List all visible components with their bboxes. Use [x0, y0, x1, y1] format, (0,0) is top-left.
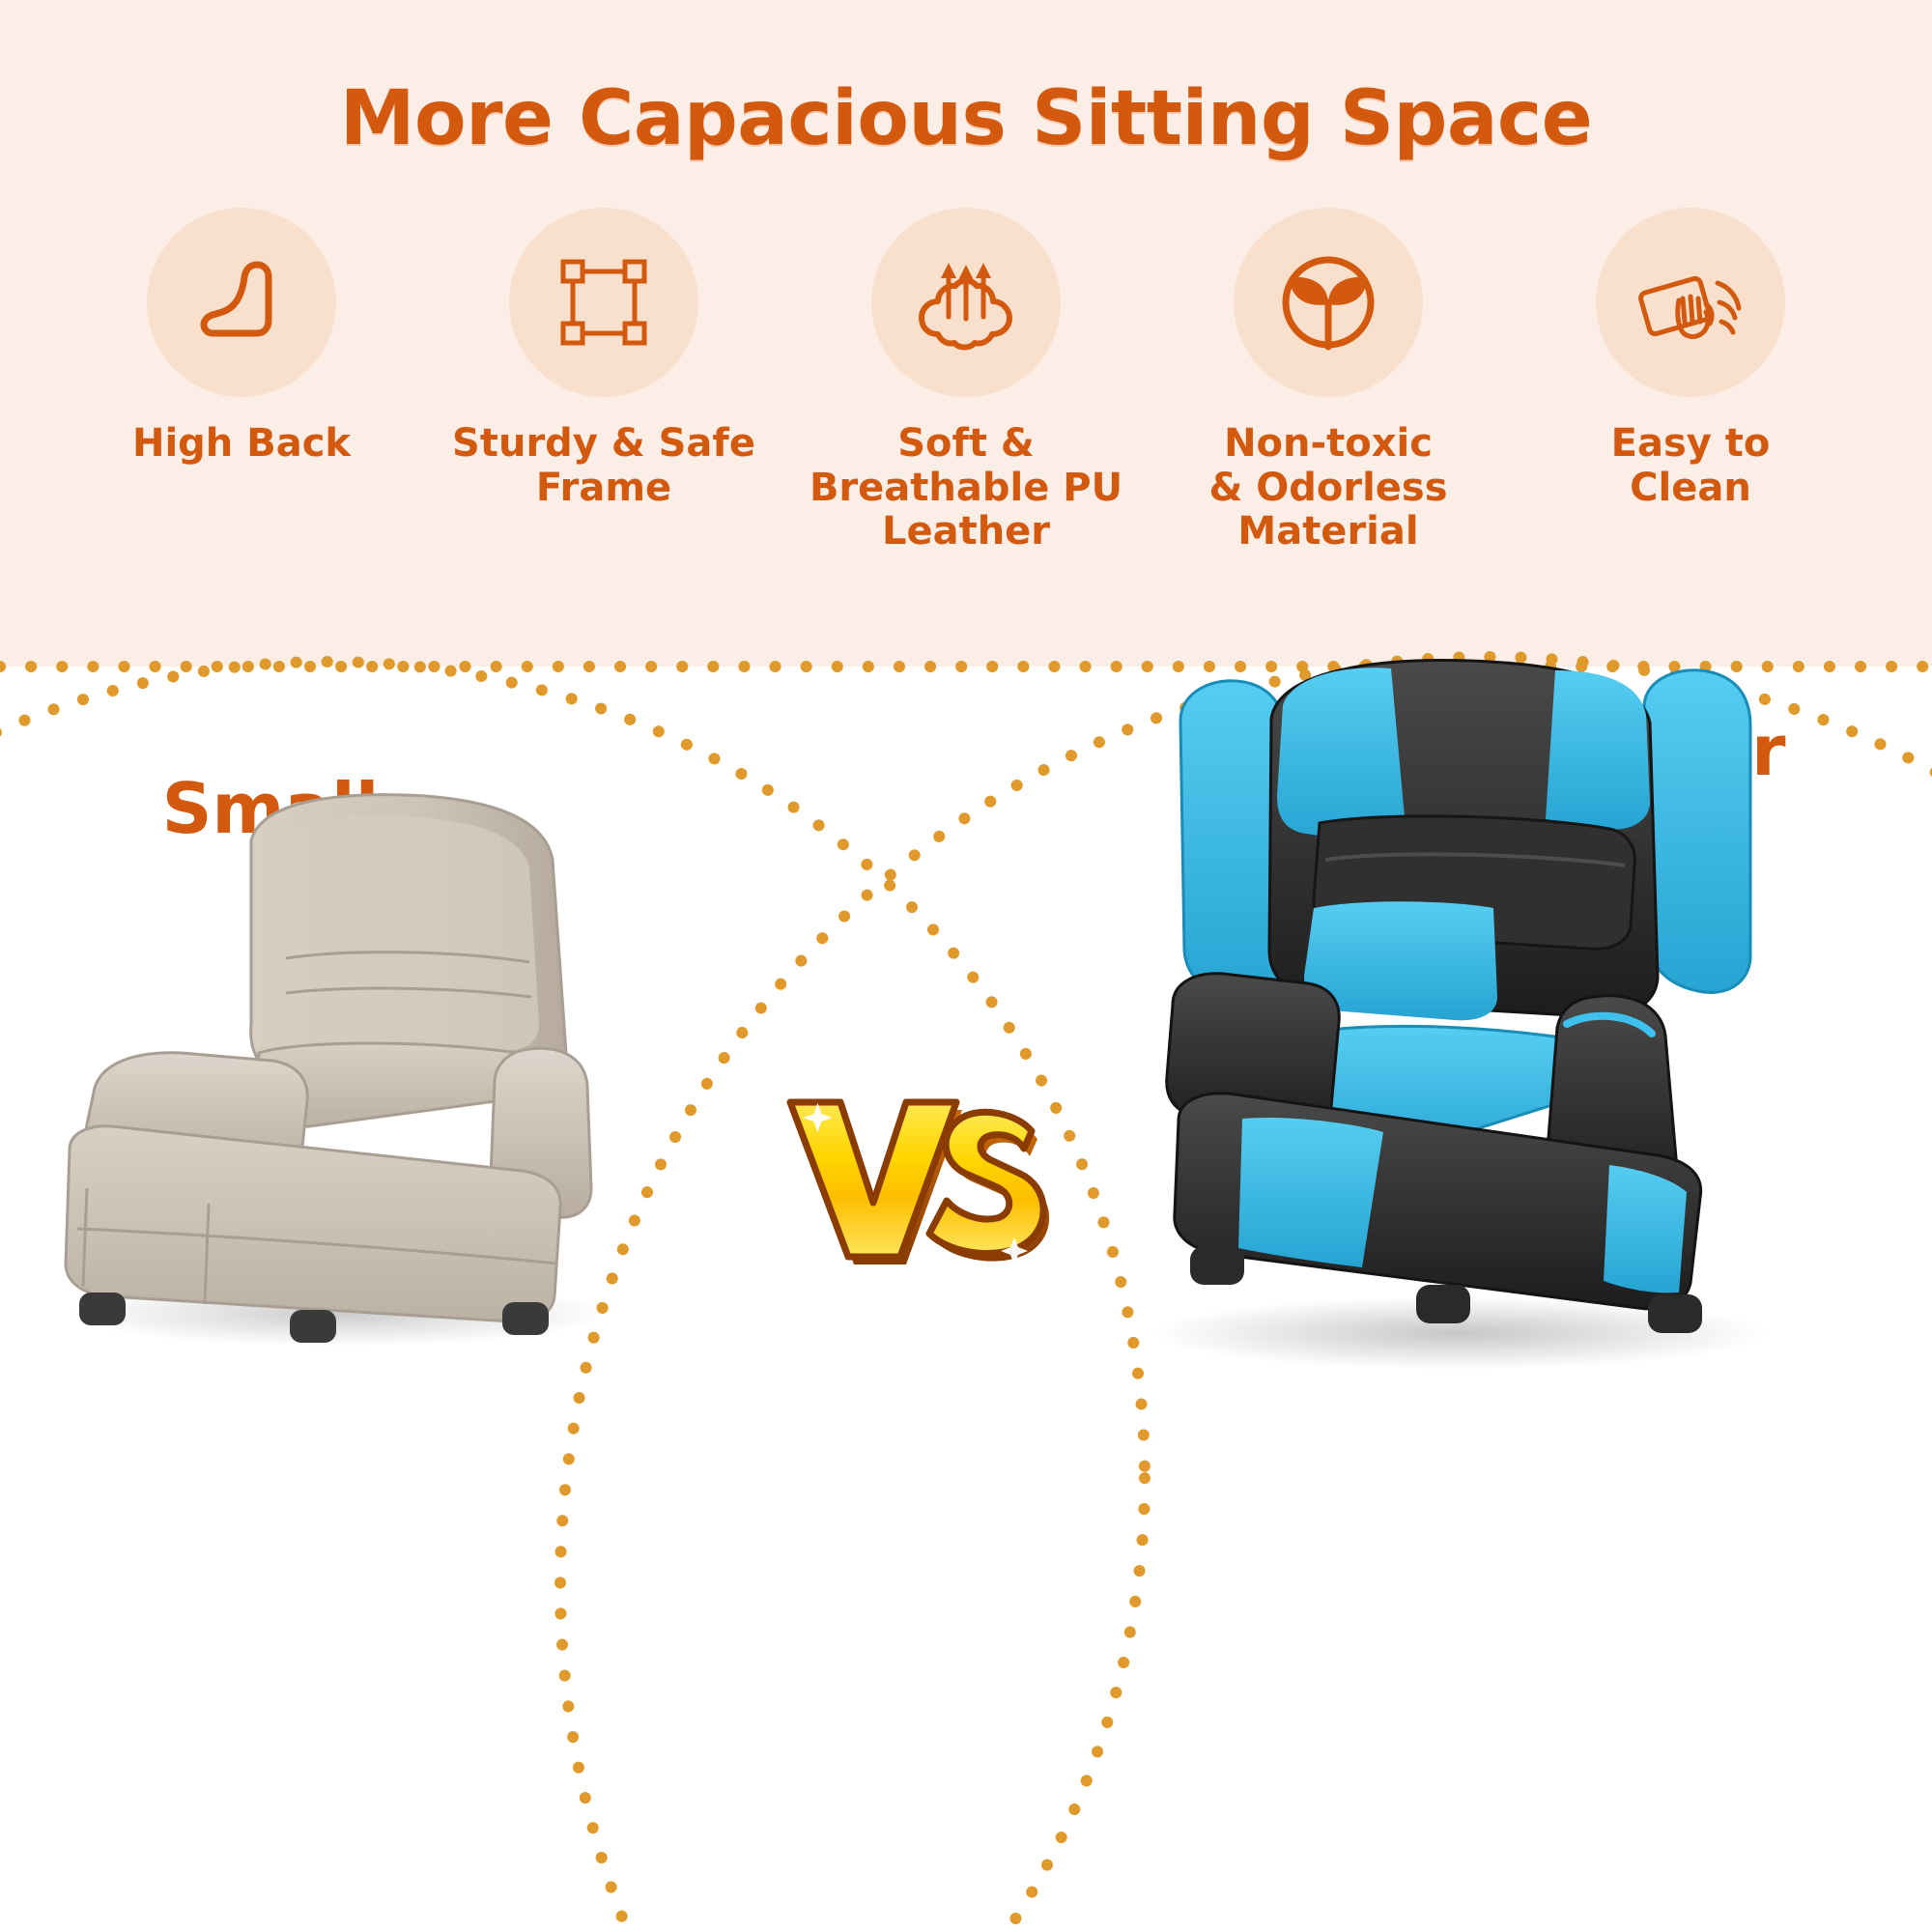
feature-item-easy-clean: Easy toClean	[1531, 208, 1850, 510]
high-back-seat-icon	[184, 244, 299, 360]
feature-label: Sturdy & SafeFrame	[452, 422, 755, 510]
feature-panel: More Capacious Sitting Space High Back	[0, 0, 1932, 667]
feature-label: High Back	[132, 422, 351, 467]
page-title: More Capacious Sitting Space	[0, 75, 1932, 162]
versus-s-face	[929, 1112, 1043, 1253]
wiping-hand-icon	[1629, 241, 1752, 364]
chair-foot	[290, 1310, 336, 1343]
small-beige-kids-recliner	[19, 734, 657, 1372]
chair-foot	[502, 1302, 549, 1335]
feature-item-breathable-pu: Soft &Breathable PULeather	[807, 208, 1125, 554]
versus-badge: VS	[773, 1067, 1053, 1270]
chair-foot	[1416, 1285, 1470, 1323]
chair-back-inner-panel	[276, 815, 539, 1050]
bigger-blue-black-gaming-recliner	[1072, 618, 1845, 1391]
chair-foot	[79, 1293, 126, 1325]
chair-base-blue-left	[1238, 1118, 1383, 1267]
feature-icon-circle	[1596, 208, 1785, 397]
feature-item-sturdy-frame: Sturdy & SafeFrame	[444, 208, 763, 510]
sturdy-frame-icon	[546, 244, 662, 360]
feature-label: Easy toClean	[1611, 422, 1771, 510]
breathable-cloud-icon	[905, 241, 1027, 363]
chair-foot	[1648, 1294, 1702, 1333]
feature-item-non-toxic: Non-toxic& OdorlessMaterial	[1169, 208, 1488, 554]
feature-list: High Back	[82, 208, 1850, 613]
feature-label: Non-toxic& OdorlessMaterial	[1208, 422, 1447, 554]
feature-item-high-back: High Back	[82, 208, 401, 467]
feature-icon-circle	[871, 208, 1061, 397]
feature-icon-circle	[147, 208, 336, 397]
chair-base-body	[66, 1126, 560, 1322]
chair-base-blue-right	[1604, 1165, 1687, 1293]
feature-label: Soft &Breathable PULeather	[810, 422, 1122, 554]
feature-icon-circle	[1234, 208, 1423, 397]
chair-headrest-accent-right	[1546, 670, 1650, 830]
chair-right-wing	[1644, 670, 1750, 993]
eco-leaf-circle-icon	[1268, 242, 1388, 362]
feature-icon-circle	[509, 208, 698, 397]
chair-foot	[1190, 1246, 1244, 1285]
product-comparison-infographic: More Capacious Sitting Space High Back	[0, 0, 1932, 1932]
